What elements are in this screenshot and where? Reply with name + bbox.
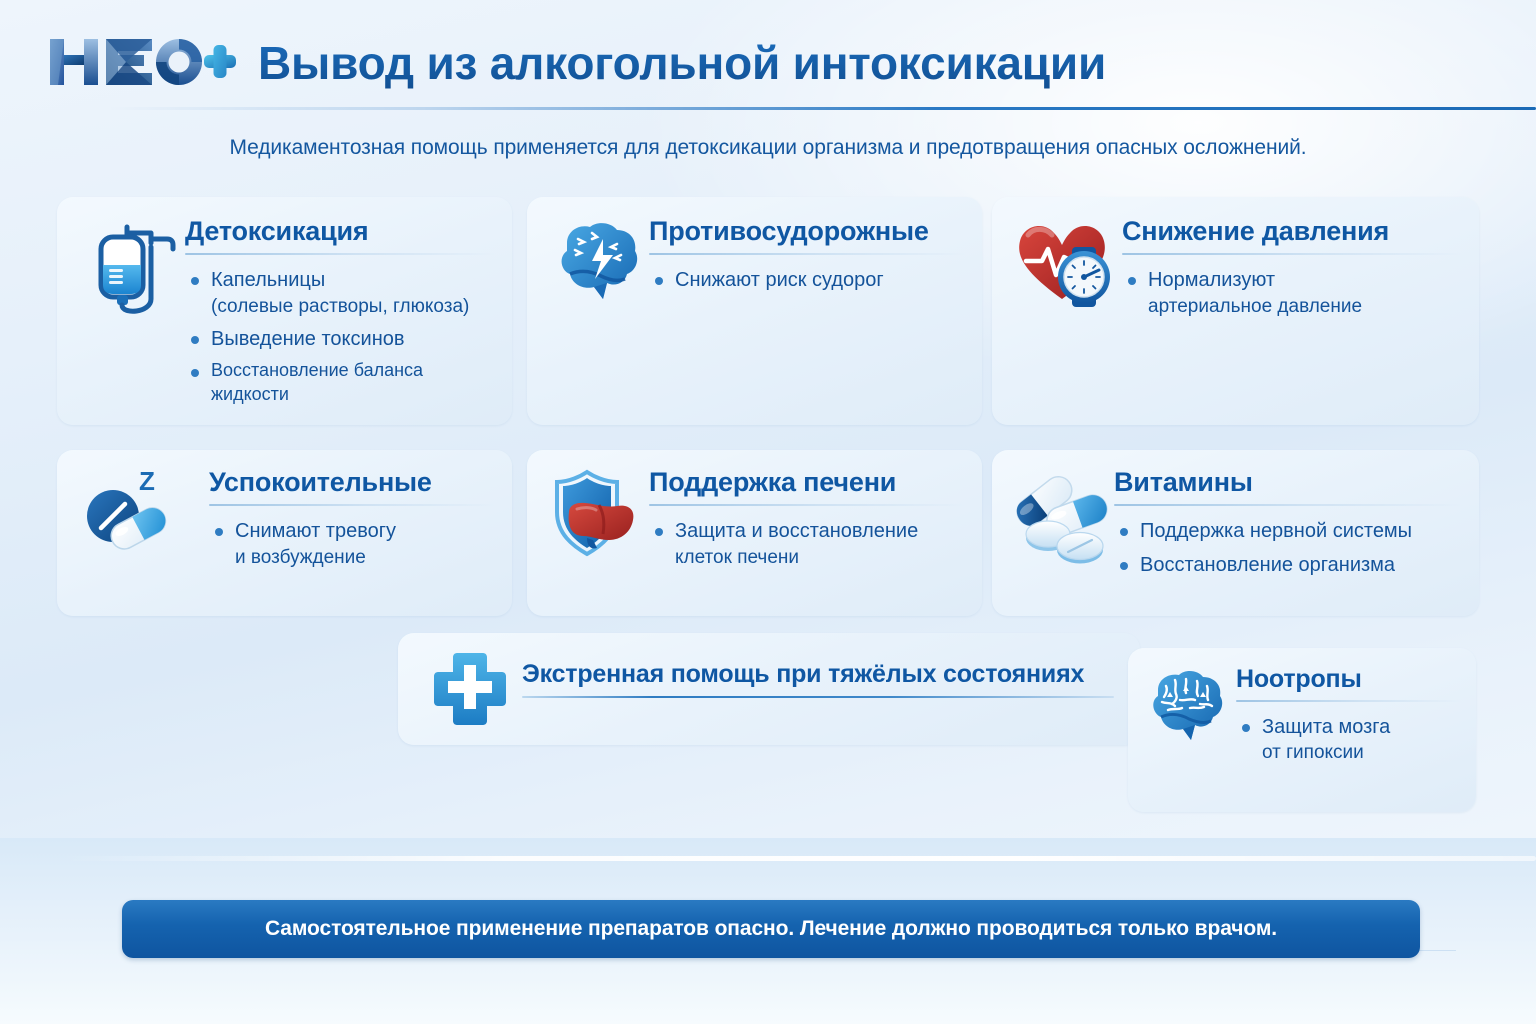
list-item: Снимают тревогу и возбуждение [209,518,496,569]
card-nootropics[interactable]: Ноотропы Защита мозга от гипоксии [1128,648,1476,812]
bullet-subtext: от гипоксии [1262,740,1462,765]
sleeping-pill-icon: Z [75,462,179,566]
card-title-vitamins: Витамины [1114,468,1463,497]
card-liver-support[interactable]: Поддержка печени Защита и восстановление… [527,450,982,616]
bullet-list-sedatives: Снимают тревогу и возбуждение [209,518,496,569]
bullet-list-liver-support: Защита и восстановление клеток печени [649,518,966,569]
brain-icon [1142,662,1234,754]
card-body-blood-pressure: Снижение давления Нормализуют артериальн… [1122,217,1463,326]
list-item: Восстановление организма [1114,552,1463,578]
list-item: Поддержка нервной системы [1114,518,1463,544]
title-underline [209,504,496,506]
bullet-subtext: (солевые растворы, глюкоза) [211,294,496,319]
card-title-sedatives: Успокоительные [209,468,496,497]
header-divider [108,107,1536,110]
card-body-sedatives: Успокоительные Снимают тревогу и возбужд… [209,468,496,577]
shield-liver-icon [543,464,647,568]
card-body-vitamins: Витамины Поддержка нервной системы Восст… [1114,468,1463,585]
medical-cross-icon [430,649,510,729]
neo-plus-logo [48,33,238,91]
card-sedatives[interactable]: Z Успокоительные Снимают тревогу и возбу… [57,450,512,616]
svg-text:Z: Z [139,466,155,496]
card-anticonvulsants[interactable]: Противосудорожные Снижают риск судорог [527,197,982,425]
list-item: Защита и восстановление клеток печени [649,518,966,569]
card-body-detox: Детоксикация Капельницы (солевые раствор… [185,217,496,414]
bullet-list-anticonvulsants: Снижают риск судорог [649,267,966,293]
bullet-list-vitamins: Поддержка нервной системы Восстановление… [1114,518,1463,578]
list-item: Нормализуют артериальное давление [1122,267,1463,318]
list-item: Капельницы (солевые растворы, глюкоза) [185,267,496,318]
title-underline [1114,504,1463,506]
card-title-liver-support: Поддержка печени [649,468,966,497]
title-underline [649,504,966,506]
card-body-anticonvulsants: Противосудорожные Снижают риск судорог [649,217,966,301]
bullet-list-detox: Капельницы (солевые растворы, глюкоза) В… [185,267,496,406]
bullet-list-nootropics: Защита мозга от гипоксии [1236,714,1462,765]
title-underline [649,253,966,255]
bullet-list-blood-pressure: Нормализуют артериальное давление [1122,267,1463,318]
bullet-subtext: клеток печени [675,545,966,570]
page-title: Вывод из алкогольной интоксикации [258,36,1106,90]
warning-text: Самостоятельное применение препаратов оп… [265,917,1277,941]
card-body-emergency-help: Экстренная помощь при тяжёлых состояниях [522,661,1114,698]
brain-lightning-icon [545,213,649,313]
title-underline [1236,700,1462,702]
pills-capsules-icon [1002,464,1112,570]
list-item: Снижают риск судорог [649,267,966,293]
bullet-subtext: артериальное давление [1148,294,1463,319]
card-emergency-help[interactable]: Экстренная помощь при тяжёлых состояниях [398,633,1140,745]
card-vitamins[interactable]: Витамины Поддержка нервной системы Восст… [992,450,1479,616]
title-underline [1122,253,1463,255]
card-body-nootropics: Ноотропы Защита мозга от гипоксии [1236,666,1462,772]
page-header: Вывод из алкогольной интоксикации [0,0,1536,118]
card-title-blood-pressure: Снижение давления [1122,217,1463,246]
list-item: Восстановление баланса жидкости [185,359,496,407]
card-detox[interactable]: Детоксикация Капельницы (солевые раствор… [57,197,512,425]
heart-pressure-gauge-icon [1010,213,1120,317]
bullet-text: Защита и восстановление [675,520,918,542]
list-item: Выведение токсинов [185,326,496,352]
card-title-detox: Детоксикация [185,217,496,246]
bullet-subtext: и возбуждение [235,545,496,570]
title-underline [522,696,1114,698]
card-body-liver-support: Поддержка печени Защита и восстановление… [649,468,966,577]
card-title-nootropics: Ноотропы [1236,666,1462,693]
bullet-text: Нормализуют [1148,269,1275,291]
card-title-emergency-help: Экстренная помощь при тяжёлых состояниях [522,661,1114,688]
iv-drip-icon [79,217,183,321]
list-item: Защита мозга от гипоксии [1236,714,1462,765]
card-blood-pressure[interactable]: Снижение давления Нормализуют артериальн… [992,197,1479,425]
bullet-text: Капельницы [211,269,325,291]
page-subtitle: Медикаментозная помощь применяется для д… [0,136,1536,160]
card-title-anticonvulsants: Противосудорожные [649,217,966,246]
bullet-text: Защита мозга [1262,716,1390,738]
title-underline [185,253,496,255]
warning-banner: Самостоятельное применение препаратов оп… [122,900,1420,958]
bullet-text: Снимают тревогу [235,520,396,542]
